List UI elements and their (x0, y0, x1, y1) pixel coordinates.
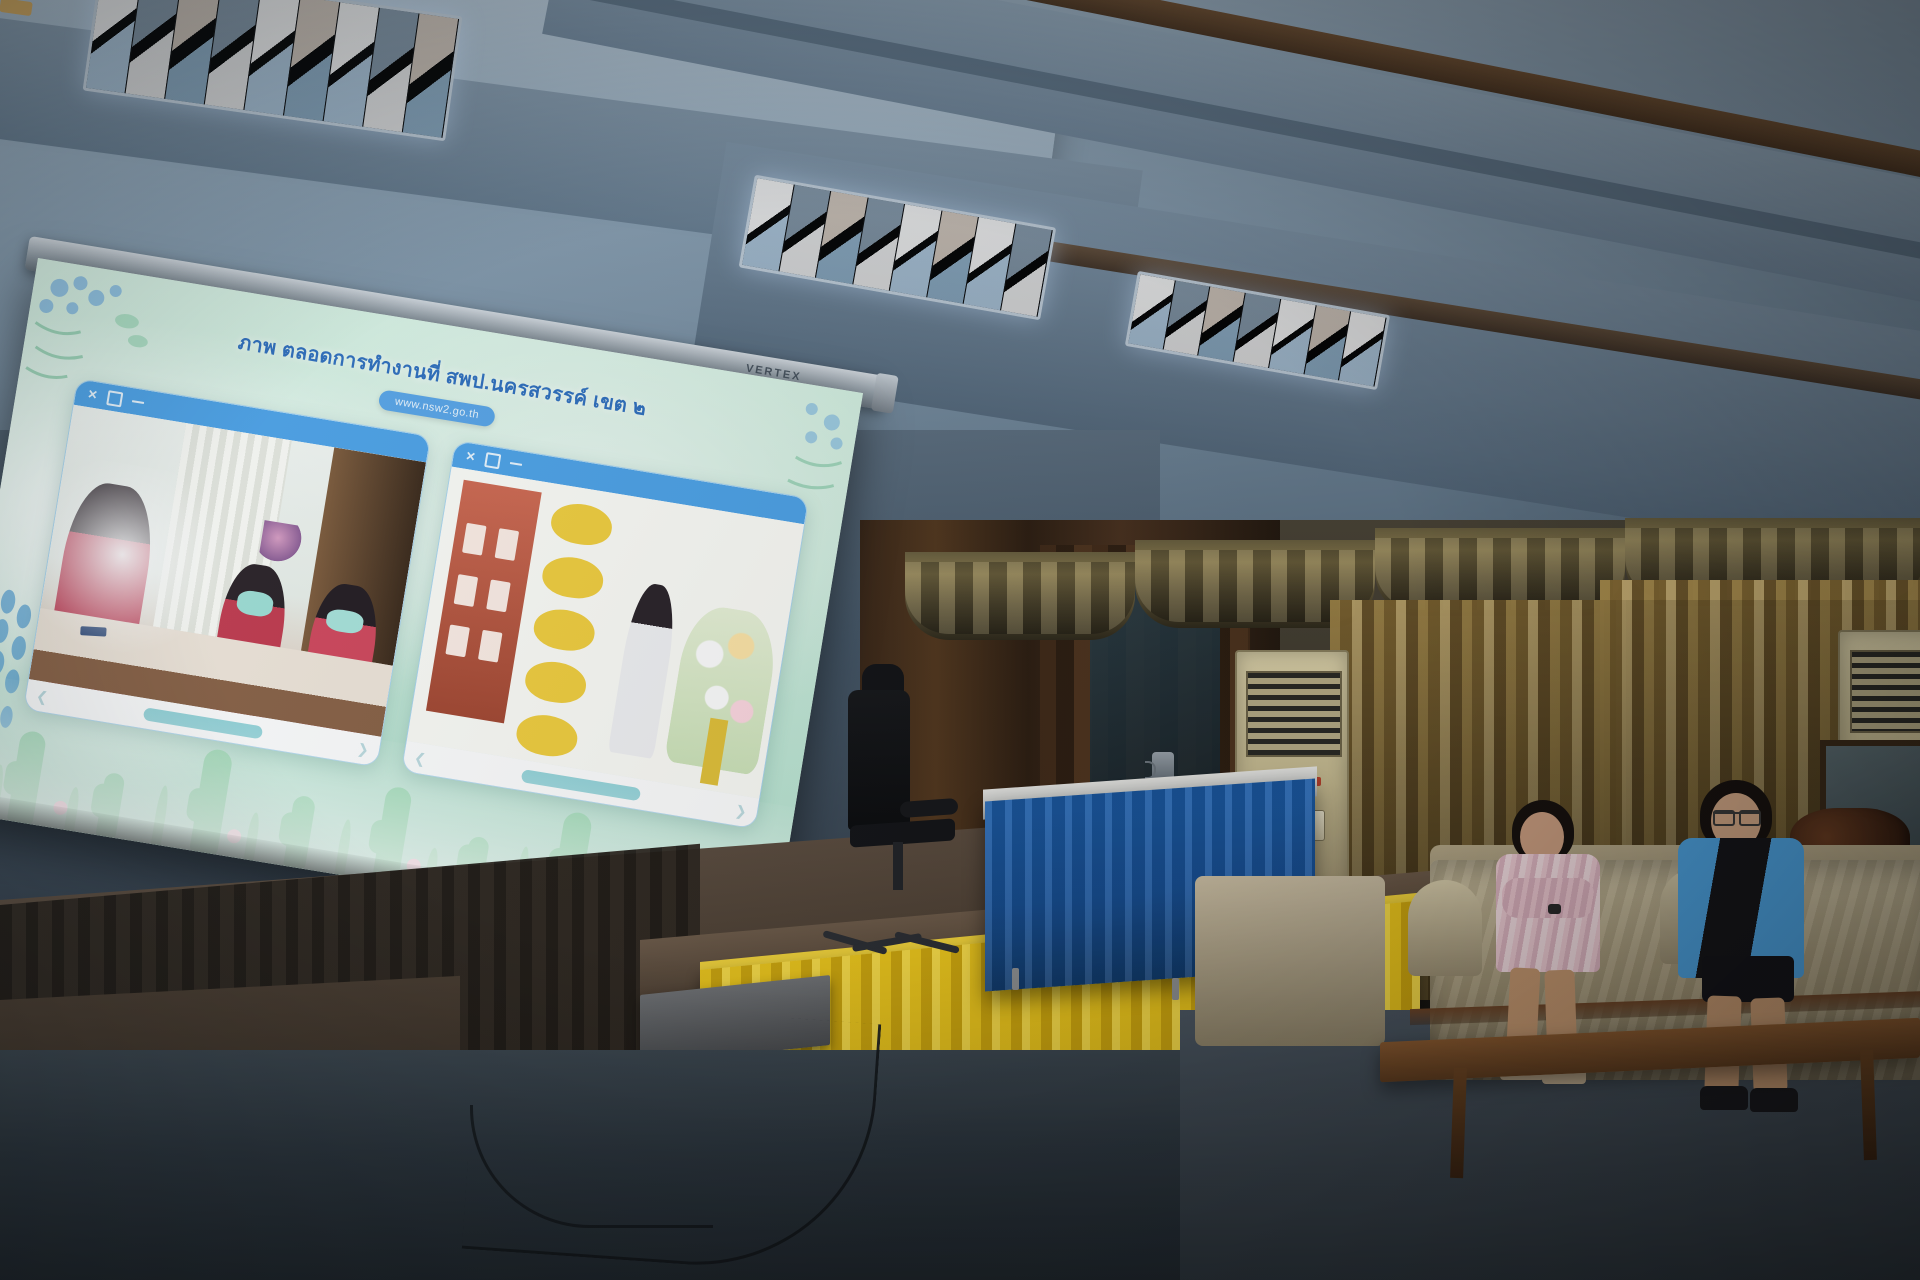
curtain-pelmet-1 (905, 552, 1135, 640)
conference-room-photo: VERTEX (0, 0, 1920, 1280)
close-icon[interactable]: ✕ (465, 450, 477, 463)
ac-grille-icon (1246, 671, 1342, 757)
photo-card-left-image (29, 405, 426, 737)
ac-grille-icon (1850, 650, 1920, 732)
minimize-icon[interactable] (510, 462, 522, 466)
minimize-icon[interactable] (132, 400, 144, 404)
floral-upholstered-sofa-left[interactable] (1195, 876, 1385, 1046)
close-icon[interactable]: ✕ (87, 388, 99, 401)
maximize-icon[interactable] (484, 452, 501, 469)
executive-office-chair-post (893, 842, 903, 890)
photo-card-right-image (407, 467, 804, 799)
flower-vase-icon (258, 520, 305, 570)
maximize-icon[interactable] (106, 390, 123, 407)
eyeglasses-icon (1713, 812, 1759, 824)
executive-office-chair-base (822, 930, 972, 956)
sofa-armrest-left (1408, 880, 1482, 976)
wristwatch-icon (1548, 904, 1561, 914)
